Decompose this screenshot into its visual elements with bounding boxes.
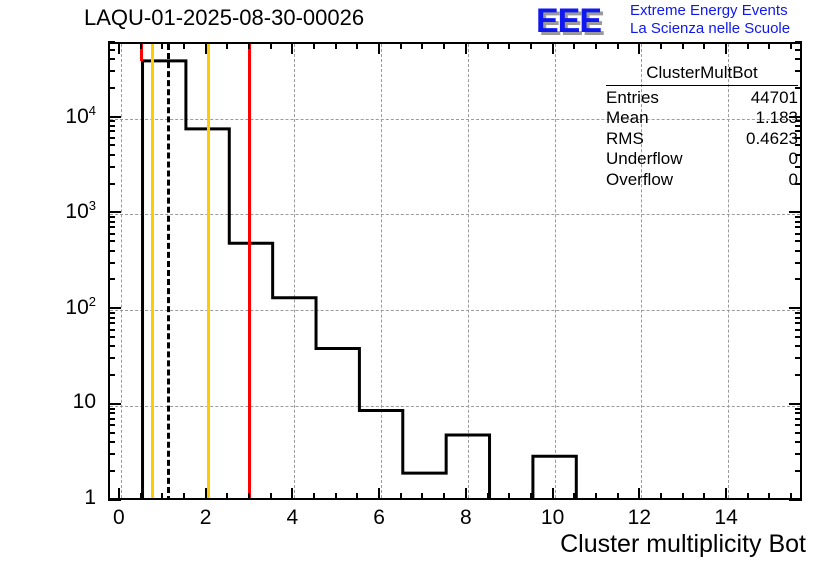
stats-row: Mean1.183 (606, 108, 798, 129)
x-axis-tick (660, 493, 662, 500)
y-axis-tick (108, 412, 115, 414)
y-axis-tick (108, 211, 121, 213)
y-axis-tick (795, 374, 802, 376)
marker-line-threshold-low-orange (151, 44, 154, 498)
y-axis-tick (795, 240, 802, 242)
stats-row-value: 0 (789, 149, 798, 170)
x-axis-tick (443, 493, 445, 500)
y-axis-tick (108, 278, 115, 280)
y-axis-tick (795, 408, 802, 410)
y-axis-tick (108, 154, 115, 156)
stats-rows: Entries44701Mean1.183RMS0.4623Underflow0… (606, 88, 798, 191)
y-axis-tick (795, 262, 802, 264)
y-axis-tick (795, 453, 802, 455)
y-axis-tick (108, 144, 115, 146)
stats-row-value: 44701 (751, 88, 798, 109)
x-axis-tick (703, 493, 705, 500)
y-axis-tick (795, 41, 802, 43)
y-axis-tick (108, 166, 115, 168)
x-axis-tick (313, 493, 315, 500)
stats-row-key: Overflow (606, 170, 673, 191)
eee-logo-line2: La Scienza nelle Scuole (630, 20, 790, 38)
x-axis-tick (118, 42, 120, 54)
x-axis-tick-label: 6 (349, 506, 409, 530)
y-axis-tick (795, 424, 802, 426)
x-axis-tick (682, 493, 684, 500)
x-axis-tick (487, 42, 489, 49)
stats-row: RMS0.4623 (606, 129, 798, 150)
x-axis-tick (703, 42, 705, 49)
eee-logo-mark-fore: EEE (536, 4, 601, 38)
y-axis-tick (108, 221, 115, 223)
stats-row-value: 0 (789, 170, 798, 191)
y-axis-tick (795, 317, 802, 319)
x-axis-tick (378, 42, 380, 54)
y-axis-tick (108, 137, 115, 139)
y-axis-tick (108, 87, 115, 89)
y-axis-tick (789, 403, 802, 405)
x-axis-tick (356, 493, 358, 500)
stats-row: Overflow0 (606, 170, 798, 191)
y-axis-tick (795, 250, 802, 252)
y-axis-tick (108, 418, 115, 420)
stats-row-key: Entries (606, 88, 659, 109)
x-axis-tick (508, 42, 510, 49)
x-axis-tick (291, 488, 293, 500)
y-axis-tick (108, 49, 115, 51)
y-axis-tick-label: 1 (16, 486, 96, 510)
x-axis-tick (400, 493, 402, 500)
y-axis-tick (108, 216, 115, 218)
y-axis-tick (108, 226, 115, 228)
x-axis-tick-label: 4 (262, 506, 322, 530)
y-axis-tick (108, 408, 115, 410)
marker-line-threshold-high-orange (207, 44, 210, 498)
y-axis-tick (795, 322, 802, 324)
y-axis-tick-label: 102 (16, 294, 96, 320)
stats-row-key: Mean (606, 108, 649, 129)
y-axis-tick-label: 104 (16, 103, 96, 129)
y-axis-tick (795, 278, 802, 280)
eee-logo-mark: EEE EEE (536, 4, 626, 38)
y-axis-tick (108, 240, 115, 242)
y-axis-tick (108, 312, 115, 314)
y-axis-tick (795, 233, 802, 235)
x-axis-tick (291, 42, 293, 54)
y-axis-tick (108, 374, 115, 376)
y-axis-tick (108, 470, 115, 472)
y-axis-tick (108, 250, 115, 252)
marker-line-threshold-high-red (248, 44, 251, 498)
x-axis-tick (421, 493, 423, 500)
x-axis-tick (205, 42, 207, 54)
x-axis-tick (725, 42, 727, 54)
x-axis-title: Cluster multiplicity Bot (560, 530, 806, 559)
eee-logo-text: Extreme Energy Events La Scienza nelle S… (630, 2, 790, 38)
x-axis-tick (725, 488, 727, 500)
page-title: LAQU-01-2025-08-30-00026 (84, 5, 364, 31)
x-axis-tick (638, 42, 640, 54)
x-axis-tick (465, 488, 467, 500)
x-axis-tick (140, 493, 142, 500)
y-axis-tick (789, 499, 802, 501)
x-axis-tick (768, 42, 770, 49)
y-axis-tick (795, 345, 802, 347)
x-axis-tick-label: 14 (696, 506, 756, 530)
y-axis-tick (108, 116, 121, 118)
marker-line-mean-dashed (167, 44, 170, 498)
y-axis-tick (795, 412, 802, 414)
x-axis-tick-label: 2 (176, 506, 236, 530)
y-axis-tick (795, 49, 802, 51)
x-axis-tick (552, 42, 554, 54)
y-axis-tick (795, 58, 802, 60)
x-axis-tick (682, 42, 684, 49)
stats-box: ClusterMultBot Entries44701Mean1.183RMS0… (606, 63, 798, 190)
x-axis-tick (140, 42, 142, 49)
x-axis-tick (595, 493, 597, 500)
x-axis-tick (573, 493, 575, 500)
y-axis-tick (108, 233, 115, 235)
stats-row-key: Underflow (606, 149, 683, 170)
y-axis-tick (108, 307, 121, 309)
x-axis-tick (400, 42, 402, 49)
y-axis-tick (108, 70, 115, 72)
x-axis-tick (335, 42, 337, 49)
y-axis-tick-label: 10 (16, 390, 96, 414)
x-axis-tick (660, 42, 662, 49)
y-axis-tick (108, 41, 115, 43)
x-axis-tick (205, 488, 207, 500)
x-axis-tick (421, 42, 423, 49)
y-axis-tick (795, 221, 802, 223)
y-axis-tick (108, 499, 121, 501)
x-axis-tick (226, 493, 228, 500)
x-axis-tick (248, 42, 250, 49)
x-axis-tick (356, 42, 358, 49)
y-axis-tick (795, 226, 802, 228)
y-axis-tick (108, 120, 115, 122)
x-axis-tick (161, 493, 163, 500)
y-axis-tick (108, 432, 115, 434)
y-axis-tick (108, 317, 115, 319)
x-axis-tick (226, 42, 228, 49)
stats-title: ClusterMultBot (606, 63, 798, 86)
y-axis-tick (108, 322, 115, 324)
x-axis-tick (747, 493, 749, 500)
y-axis-tick (795, 470, 802, 472)
x-axis-tick-label: 10 (523, 506, 583, 530)
y-axis-tick (108, 130, 115, 132)
y-axis-tick (108, 403, 121, 405)
x-axis-tick-label: 0 (89, 506, 149, 530)
y-axis-tick (795, 441, 802, 443)
x-axis-tick (183, 42, 185, 49)
y-axis-tick (108, 336, 115, 338)
y-axis-tick (108, 345, 115, 347)
x-axis-tick (335, 493, 337, 500)
x-axis-tick (595, 42, 597, 49)
y-axis-tick (795, 329, 802, 331)
y-axis-tick (108, 357, 115, 359)
y-axis-tick (108, 183, 115, 185)
stats-row-key: RMS (606, 129, 644, 150)
x-axis-tick (248, 493, 250, 500)
y-axis-tick (108, 453, 115, 455)
x-axis-tick (530, 42, 532, 49)
stats-row-value: 0.4623 (746, 129, 798, 150)
x-axis-tick (161, 42, 163, 49)
x-axis-tick (617, 42, 619, 49)
x-axis-tick (747, 42, 749, 49)
y-axis-tick (108, 262, 115, 264)
x-axis-tick (487, 493, 489, 500)
y-axis-tick (108, 125, 115, 127)
x-axis-tick (270, 42, 272, 49)
y-axis-tick (789, 307, 802, 309)
x-axis-tick (768, 493, 770, 500)
y-axis-tick (789, 211, 802, 213)
x-axis-tick (443, 42, 445, 49)
x-axis-tick (378, 488, 380, 500)
y-axis-tick (108, 329, 115, 331)
y-axis-tick (795, 418, 802, 420)
stats-row: Entries44701 (606, 88, 798, 109)
x-axis-tick (638, 488, 640, 500)
stats-row-value: 1.183 (755, 108, 798, 129)
y-axis-tick (795, 357, 802, 359)
x-axis-tick-label: 8 (436, 506, 496, 530)
x-axis-tick (530, 493, 532, 500)
x-axis-tick (465, 42, 467, 54)
x-axis-tick (313, 42, 315, 49)
eee-logo: EEE EEE Extreme Energy Events La Scienza… (536, 2, 834, 40)
y-axis-tick (108, 58, 115, 60)
y-axis-tick (795, 312, 802, 314)
x-axis-tick (552, 488, 554, 500)
y-axis-tick (795, 336, 802, 338)
x-axis-tick-label: 12 (609, 506, 669, 530)
x-axis-tick (183, 493, 185, 500)
y-axis-tick-label: 103 (16, 198, 96, 224)
y-axis-tick (795, 216, 802, 218)
eee-logo-line1: Extreme Energy Events (630, 2, 790, 20)
x-axis-tick (617, 493, 619, 500)
x-axis-tick (270, 493, 272, 500)
x-axis-tick (790, 42, 792, 49)
x-axis-tick (573, 42, 575, 49)
y-axis-tick (108, 424, 115, 426)
x-axis-tick (508, 493, 510, 500)
y-axis-tick (108, 441, 115, 443)
stats-row: Underflow0 (606, 149, 798, 170)
y-axis-tick (795, 432, 802, 434)
